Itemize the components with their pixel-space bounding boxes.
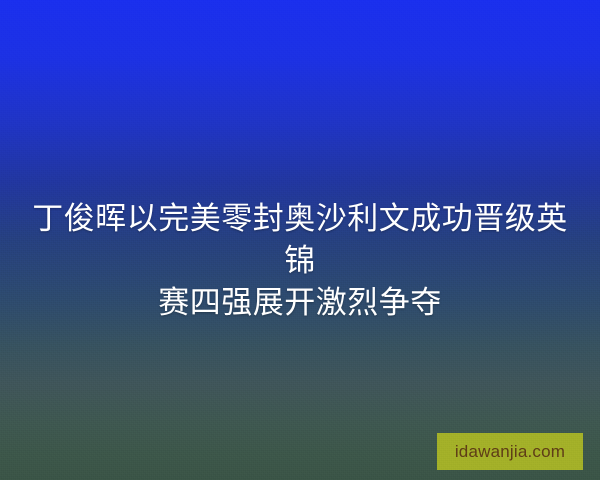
watermark-badge: idawanjia.com [437,433,583,470]
headline-text: 丁俊晖以完美零封奥沙利文成功晋级英锦 赛四强展开激烈争夺 [0,198,600,324]
title-card: 丁俊晖以完美零封奥沙利文成功晋级英锦 赛四强展开激烈争夺 idawanjia.c… [0,0,600,480]
watermark-label: idawanjia.com [455,443,565,460]
